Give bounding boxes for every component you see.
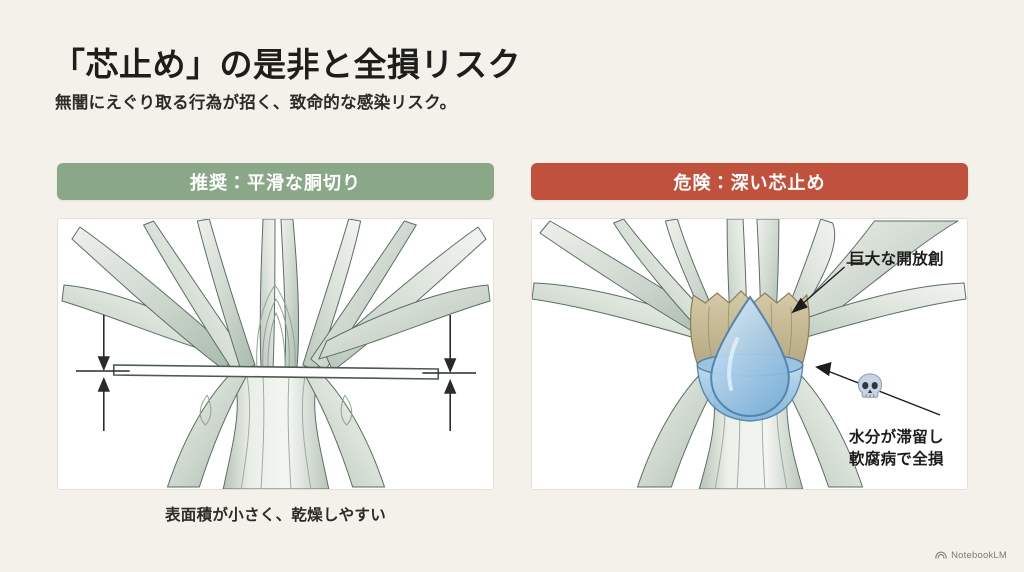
annotation-soft-rot-line2: 軟腐病で全損 [849, 449, 944, 471]
panel-recommended: 推奨：平滑な胴切り [57, 163, 494, 490]
flat-cut-plant-illustration [58, 219, 493, 489]
annotation-soft-rot-line1: 水分が滞留し [849, 427, 944, 449]
slide-root: 「芯止め」の是非と全損リスク 無闇にえぐり取る行為が招く、致命的な感染リスク。 … [0, 0, 1024, 572]
watermark-label: NotebookLM [951, 550, 1007, 561]
panel-header-recommended-label: 推奨：平滑な胴切り [190, 169, 361, 195]
figure-flat-cut [57, 218, 494, 490]
panel-header-recommended: 推奨：平滑な胴切り [57, 163, 494, 200]
watermark: NotebookLM [935, 550, 1007, 561]
panel-header-danger: 危険：深い芯止め [531, 163, 968, 200]
skull-icon [855, 372, 885, 402]
annotation-open-wound: 巨大な開放創 [849, 249, 944, 271]
caption-recommended: 表面積が小さく、乾燥しやすい [57, 503, 494, 525]
panel-header-danger-label: 危険：深い芯止め [674, 169, 826, 195]
annotation-soft-rot: 水分が滞留し 軟腐病で全損 [849, 427, 944, 472]
notebooklm-logo-icon [935, 551, 947, 560]
page-subtitle: 無闇にえぐり取る行為が招く、致命的な感染リスク。 [55, 89, 456, 113]
page-title: 「芯止め」の是非と全損リスク [52, 38, 521, 86]
